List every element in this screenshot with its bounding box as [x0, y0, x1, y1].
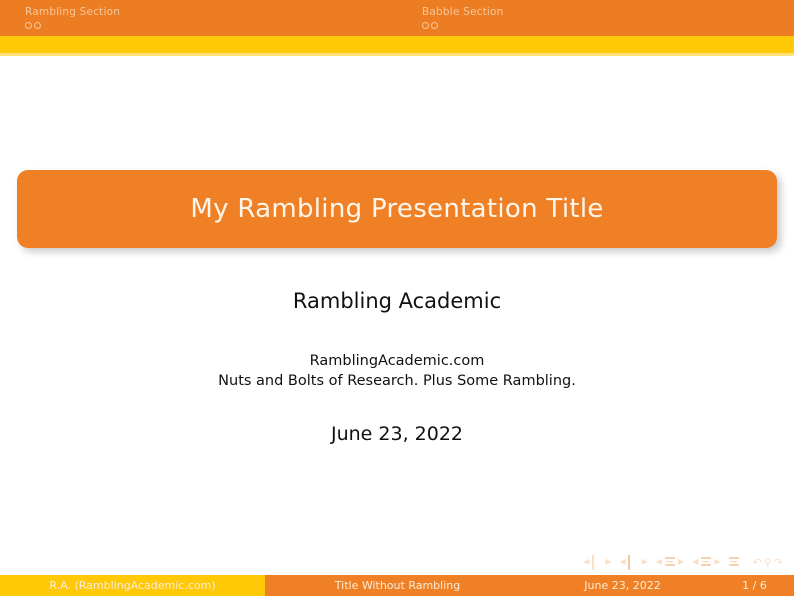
slide-forward-icon[interactable]: ▶ — [605, 558, 611, 566]
author-name: Rambling Academic — [0, 289, 794, 313]
institute-line-website: RamblingAcademic.com — [0, 351, 794, 371]
nav-dot-icon[interactable] — [34, 22, 41, 29]
section-navigation-group: ◀ ▶ — [692, 557, 720, 567]
header-navigation-bar: Rambling Section Babble Section — [0, 0, 794, 36]
section-backward-icon[interactable]: ◀ — [692, 558, 698, 566]
slide-frame-icon[interactable] — [592, 557, 603, 567]
subsection-navigation-group: ◀ ▶ — [656, 557, 684, 567]
institute-line-tagline: Nuts and Bolts of Research. Plus Some Ra… — [0, 371, 794, 391]
title-block: My Rambling Presentation Title — [17, 170, 777, 248]
institute-block: RamblingAcademic.com Nuts and Bolts of R… — [0, 351, 794, 391]
nav-dot-icon[interactable] — [431, 22, 438, 29]
document-icon[interactable] — [729, 557, 740, 567]
footer-short-title: Title Without Rambling — [265, 575, 530, 596]
header-section-rambling[interactable]: Rambling Section — [0, 0, 397, 36]
header-accent-bar-light — [0, 53, 794, 56]
subsection-backward-icon[interactable]: ◀ — [656, 558, 662, 566]
header-section-label: Babble Section — [422, 6, 794, 18]
nav-dot-icon[interactable] — [422, 22, 429, 29]
frame-backward-icon[interactable]: ◀ — [620, 558, 626, 566]
footer-page-number: 1 / 6 — [715, 575, 794, 596]
presentation-date: June 23, 2022 — [0, 423, 794, 445]
header-section-label: Rambling Section — [25, 6, 397, 18]
frame-forward-icon[interactable]: ▶ — [642, 558, 648, 566]
subsection-forward-icon[interactable]: ▶ — [678, 558, 684, 566]
section-forward-icon[interactable]: ▶ — [714, 558, 720, 566]
beamer-navigation-symbols: ◀ ▶ ◀ ▶ ◀ ▶ ◀ ▶ — [583, 553, 782, 571]
section-lines-icon[interactable] — [701, 557, 712, 567]
header-section-dots — [422, 21, 794, 30]
header-section-babble[interactable]: Babble Section — [397, 0, 794, 36]
header-section-dots — [25, 21, 397, 30]
frame-navigation-group: ◀ ▶ — [620, 557, 648, 567]
page-title: My Rambling Presentation Title — [190, 194, 603, 224]
slide-canvas: Rambling Section Babble Section My Rambl… — [0, 0, 794, 596]
forward-icon[interactable]: ↷ — [774, 557, 782, 568]
search-icon[interactable]: ⚲ — [764, 557, 771, 568]
footer-bar: R.A. (RamblingAcademic.com) Title Withou… — [0, 575, 794, 596]
slide-navigation-group: ◀ ▶ — [583, 557, 611, 567]
back-icon[interactable]: ↶ — [753, 557, 761, 568]
footer-date: June 23, 2022 — [530, 575, 715, 596]
footer-author: R.A. (RamblingAcademic.com) — [0, 575, 265, 596]
nav-dot-icon[interactable] — [25, 22, 32, 29]
header-accent-bar — [0, 36, 794, 53]
slide-backward-icon[interactable]: ◀ — [583, 558, 589, 566]
frame-stack-icon[interactable] — [628, 557, 639, 567]
subsection-lines-icon[interactable] — [665, 557, 676, 567]
